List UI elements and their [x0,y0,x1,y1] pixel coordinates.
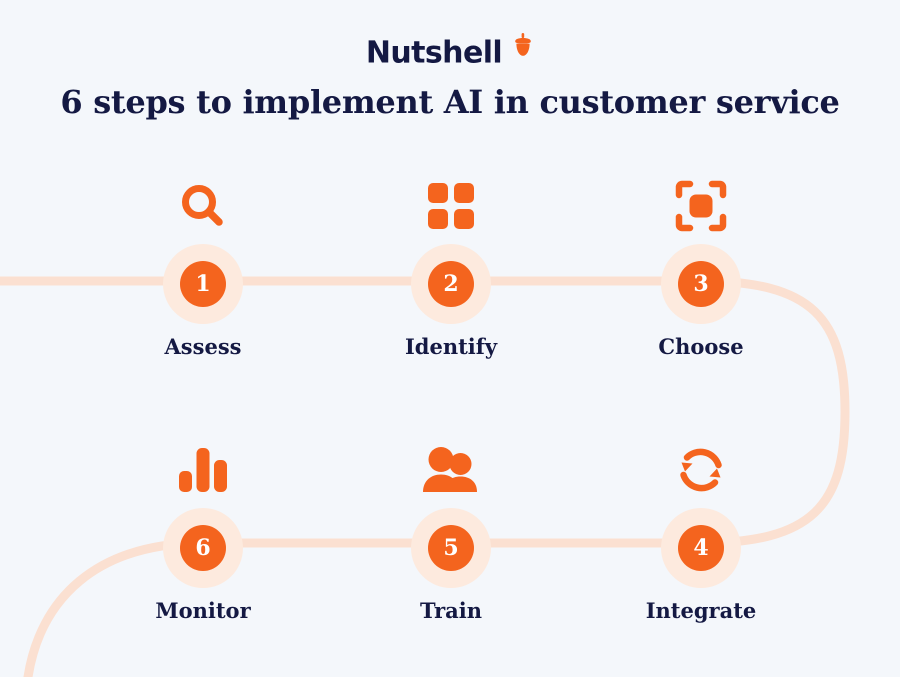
step-number-2: 2 [428,261,474,307]
step-marker-1[interactable]: 1 [163,244,243,324]
step-label-assess: Assess [113,334,293,359]
step-train[interactable]: 5 Train [361,432,541,623]
step-label-train: Train [361,598,541,623]
step-number-4: 4 [678,525,724,571]
step-marker-6[interactable]: 6 [163,508,243,588]
step-number-3: 3 [678,261,724,307]
step-identify[interactable]: 2 Identify [361,168,541,359]
step-marker-5[interactable]: 5 [411,508,491,588]
step-marker-4[interactable]: 4 [661,508,741,588]
step-label-choose: Choose [611,334,791,359]
sync-refresh-icon [611,432,791,508]
step-marker-2[interactable]: 2 [411,244,491,324]
step-monitor[interactable]: 6 Monitor [113,432,293,623]
step-label-identify: Identify [361,334,541,359]
step-number-6: 6 [180,525,226,571]
step-number-5: 5 [428,525,474,571]
step-marker-3[interactable]: 3 [661,244,741,324]
step-number-1: 1 [180,261,226,307]
step-label-integrate: Integrate [611,598,791,623]
search-icon [113,168,293,244]
focus-select-icon [611,168,791,244]
step-choose[interactable]: 3 Choose [611,168,791,359]
step-assess[interactable]: 1 Assess [113,168,293,359]
grid-icon [361,168,541,244]
bar-chart-icon [113,432,293,508]
users-group-icon [361,432,541,508]
step-integrate[interactable]: 4 Integrate [611,432,791,623]
infographic-canvas: Nutshell 6 steps to implement AI in cust… [0,0,900,677]
step-label-monitor: Monitor [113,598,293,623]
